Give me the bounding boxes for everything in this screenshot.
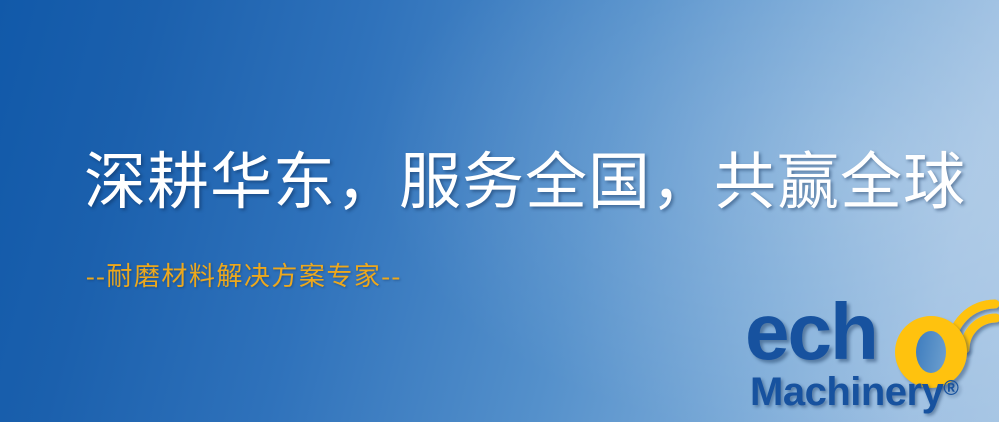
registered-trademark-icon: ®: [943, 377, 958, 400]
company-logo: ech Machinery®: [745, 296, 999, 422]
banner-subtitle: --耐磨材料解决方案专家--: [86, 264, 402, 290]
promotional-banner: 深耕华东，服务全国，共赢全球 --耐磨材料解决方案专家-- ech Machin…: [0, 0, 999, 422]
logo-wordmark-echo: ech: [745, 292, 877, 372]
logo-subtext-label: Machinery: [750, 370, 943, 414]
banner-headline: 深耕华东，服务全国，共赢全球: [84, 152, 966, 214]
logo-subtext-machinery: Machinery®: [750, 372, 959, 412]
